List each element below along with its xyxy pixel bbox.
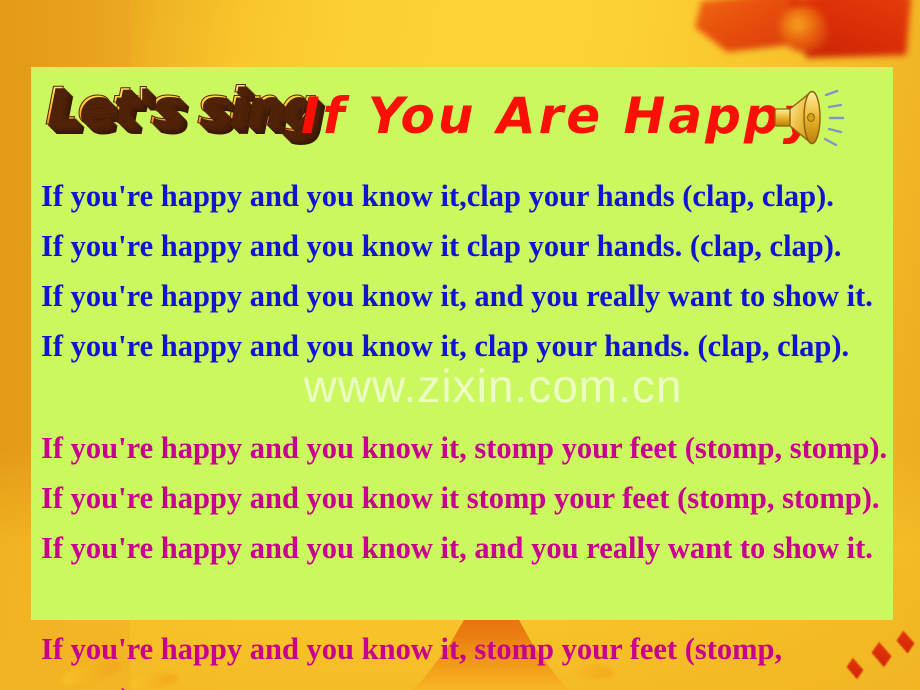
page-title: If You Are Happy	[301, 87, 818, 145]
ribbon-knot	[779, 6, 827, 52]
speaker-audio-icon[interactable]	[769, 81, 851, 153]
lyric-line: If you're happy and you know it stomp yo…	[41, 473, 893, 523]
verse-stomp-feet-overflow: If you're happy and you know it, stomp y…	[41, 624, 893, 690]
lyric-line: stomp).	[41, 674, 893, 690]
verse-stomp-feet: If you're happy and you know it, stomp y…	[41, 423, 893, 573]
lyrics-body: If you're happy and you know it,clap you…	[41, 171, 893, 573]
slide-canvas: Let's sing If You Are Happy	[0, 0, 920, 690]
lyric-line: If you're happy and you know it, stomp y…	[41, 423, 893, 473]
lyric-line: If you're happy and you know it, and you…	[41, 523, 893, 573]
verse-spacer	[41, 371, 893, 423]
lyrics-panel: Let's sing If You Are Happy	[31, 67, 893, 620]
panel-header: Let's sing If You Are Happy	[31, 67, 893, 173]
lyric-line: If you're happy and you know it, and you…	[41, 271, 893, 321]
verse-clap-hands: If you're happy and you know it,clap you…	[41, 171, 893, 371]
lyric-line: If you're happy and you know it clap you…	[41, 221, 893, 271]
red-ribbon-bow-decoration	[693, 0, 911, 64]
lyric-line: If you're happy and you know it,clap you…	[41, 171, 893, 221]
lyric-line: If you're happy and you know it, stomp y…	[41, 624, 893, 674]
lets-sing-wordart: Let's sing	[45, 81, 316, 133]
lyric-line: If you're happy and you know it, clap yo…	[41, 321, 893, 371]
